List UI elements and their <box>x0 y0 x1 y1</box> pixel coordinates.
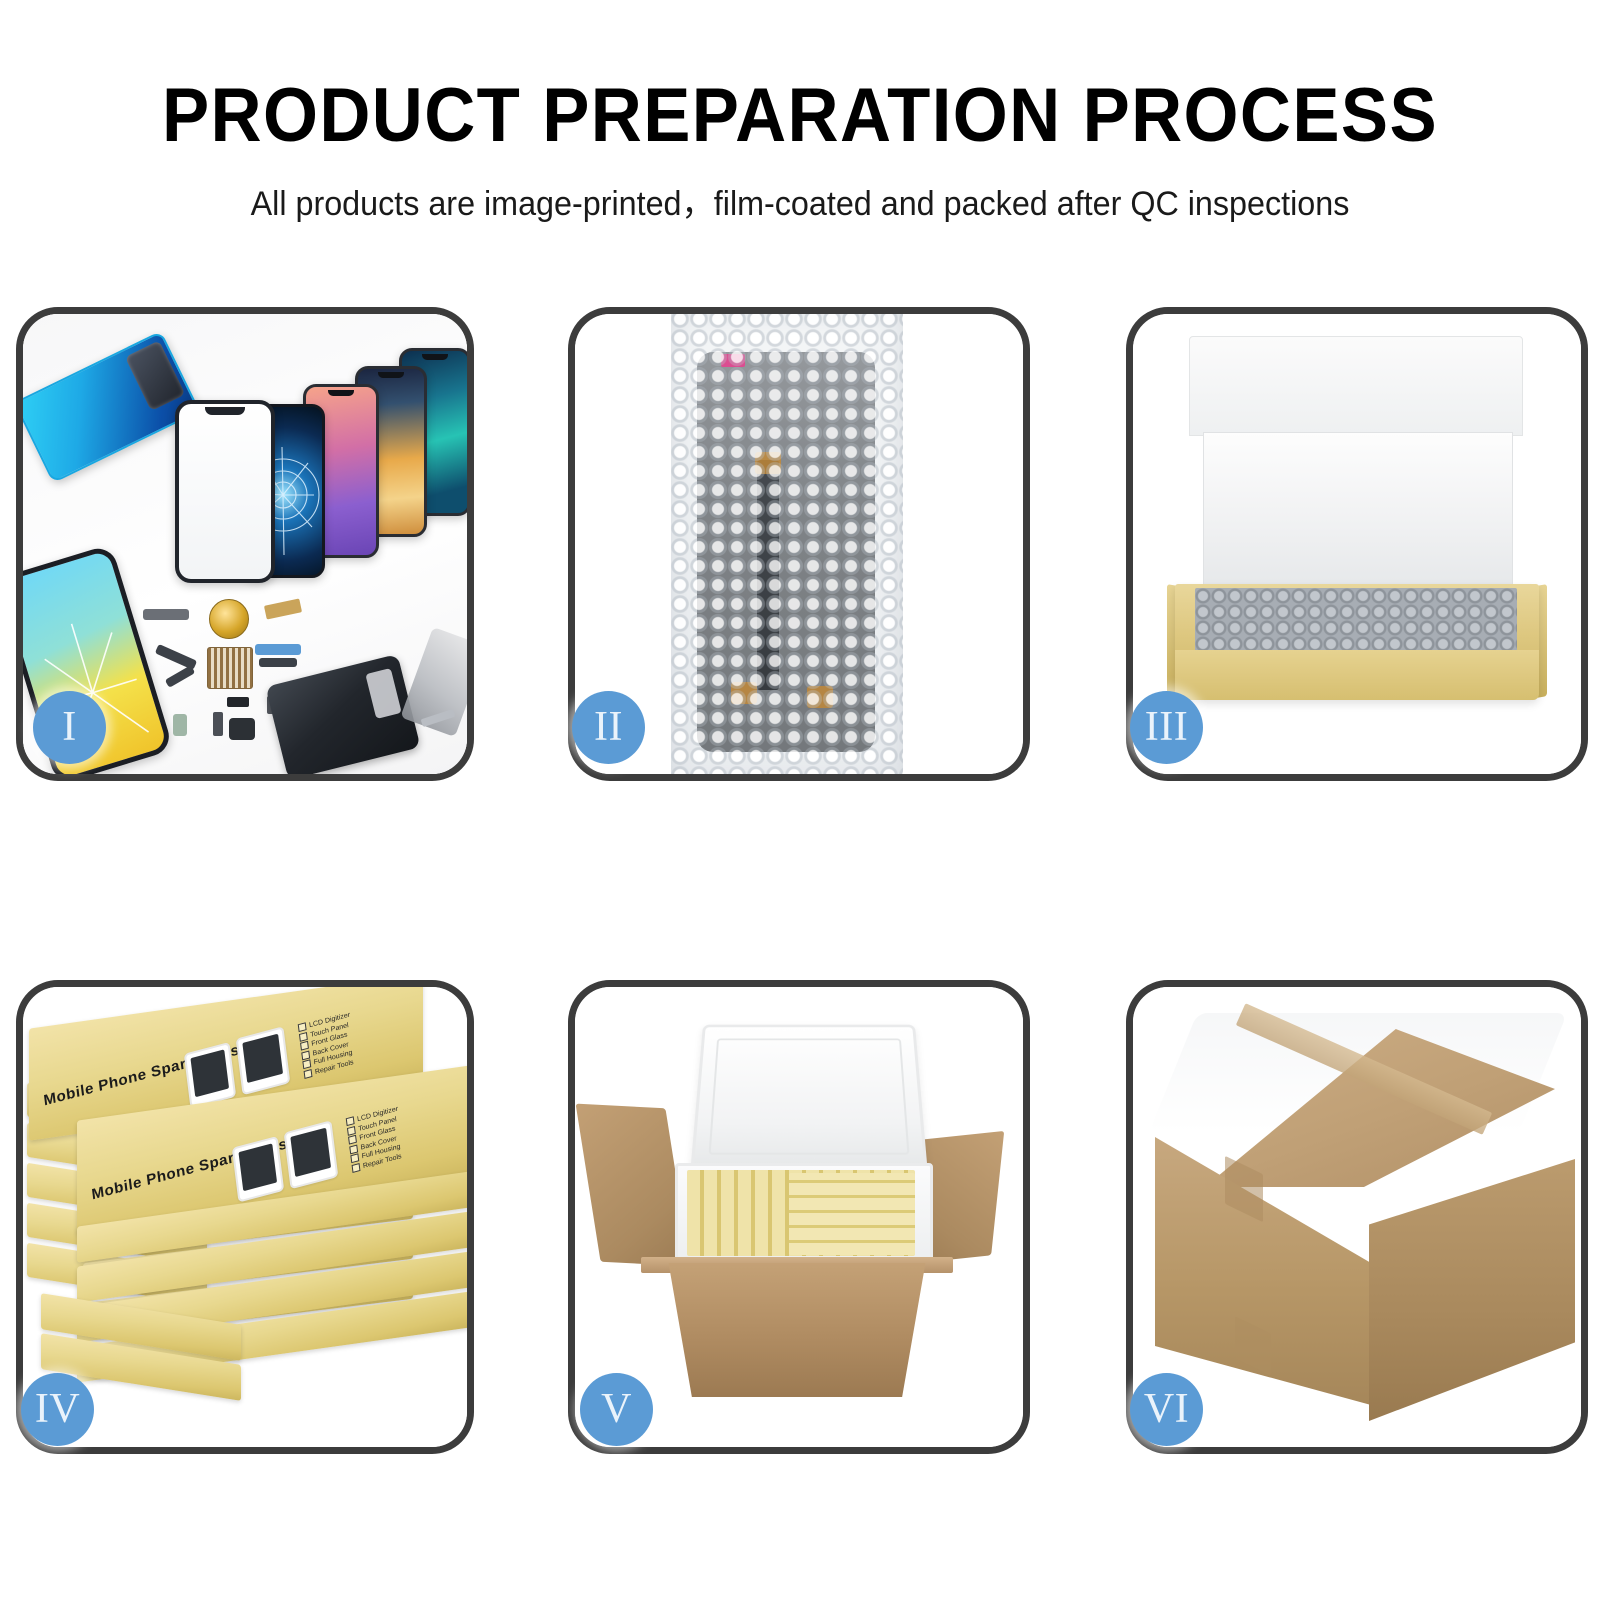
page-header: PRODUCT PREPARATION PROCESS All products… <box>0 0 1600 225</box>
qc-pink-tag-icon <box>721 354 745 367</box>
step-3-image <box>1133 314 1581 774</box>
retail-box-checklist-top: LCD Digitizer Touch Panel Front Glass Ba… <box>298 1011 357 1080</box>
foam-sheet-icon <box>1203 432 1513 589</box>
power-flex-icon <box>255 644 301 655</box>
inner-box-with-foam <box>1133 314 1581 774</box>
antenna-part-icon <box>213 712 223 736</box>
step-badge-2: II <box>572 691 645 764</box>
bubble-wrap-fill-icon <box>1195 588 1517 654</box>
step-badge-3: III <box>1130 691 1203 764</box>
page-title: PRODUCT PREPARATION PROCESS <box>56 0 1544 154</box>
lcd-flex-cable-icon <box>757 460 779 690</box>
retail-box-window-3 <box>232 1136 284 1203</box>
step-4-image: Mobile Phone Spare Parts LCD Digitizer T… <box>23 987 467 1447</box>
carton-right-face-icon <box>1369 1159 1575 1421</box>
step-5-image <box>575 987 1023 1447</box>
speaker-module-icon <box>229 718 255 740</box>
volume-flex-icon <box>259 658 297 667</box>
retail-box-checklist-second: LCD Digitizer Touch Panel Front Glass Ba… <box>346 1105 405 1174</box>
step-badge-6: VI <box>1130 1373 1203 1446</box>
bubble-bag-icon <box>671 314 903 774</box>
retail-box-window-2 <box>236 1026 291 1095</box>
sealed-carton-scene <box>1133 987 1581 1447</box>
box-front-panel-icon <box>1175 650 1539 700</box>
retail-box-window-4 <box>284 1120 339 1189</box>
carton-flap-left-icon <box>576 1104 691 1267</box>
step-6-image <box>1133 987 1581 1447</box>
foam-lid-icon <box>690 1025 927 1172</box>
lcd-connector-left-icon <box>731 682 757 704</box>
wireless-charging-coil-icon <box>209 599 249 639</box>
step-panel-6[interactable] <box>1126 980 1588 1454</box>
earpiece-mesh-icon <box>143 609 189 620</box>
tempered-glass-icon <box>175 400 275 583</box>
step-2-image <box>575 314 1023 774</box>
step-badge-1: I <box>33 691 106 764</box>
gold-boxes-row-2 <box>789 1173 915 1255</box>
page-subtitle: All products are image-printed，film-coat… <box>40 154 1560 225</box>
step-badge-4: IV <box>21 1373 94 1446</box>
carton-body-icon <box>651 1263 943 1397</box>
bubble-wrapped-screen <box>575 314 1023 774</box>
lcd-assembly-icon <box>697 352 875 752</box>
vibration-motor-icon <box>227 697 249 707</box>
lcd-connector-right-icon <box>807 686 833 708</box>
box-lid-back-icon <box>1189 336 1523 436</box>
step-panel-4[interactable]: Mobile Phone Spare Parts LCD Digitizer T… <box>16 980 474 1454</box>
sim-tray-icon <box>173 714 187 736</box>
gold-box-stack: Mobile Phone Spare Parts LCD Digitizer T… <box>23 987 467 1447</box>
carton-loading-scene <box>575 987 1023 1447</box>
lcd-connector-top-icon <box>755 452 781 474</box>
step-badge-5: V <box>580 1373 653 1446</box>
ic-chip-icon <box>207 647 253 689</box>
